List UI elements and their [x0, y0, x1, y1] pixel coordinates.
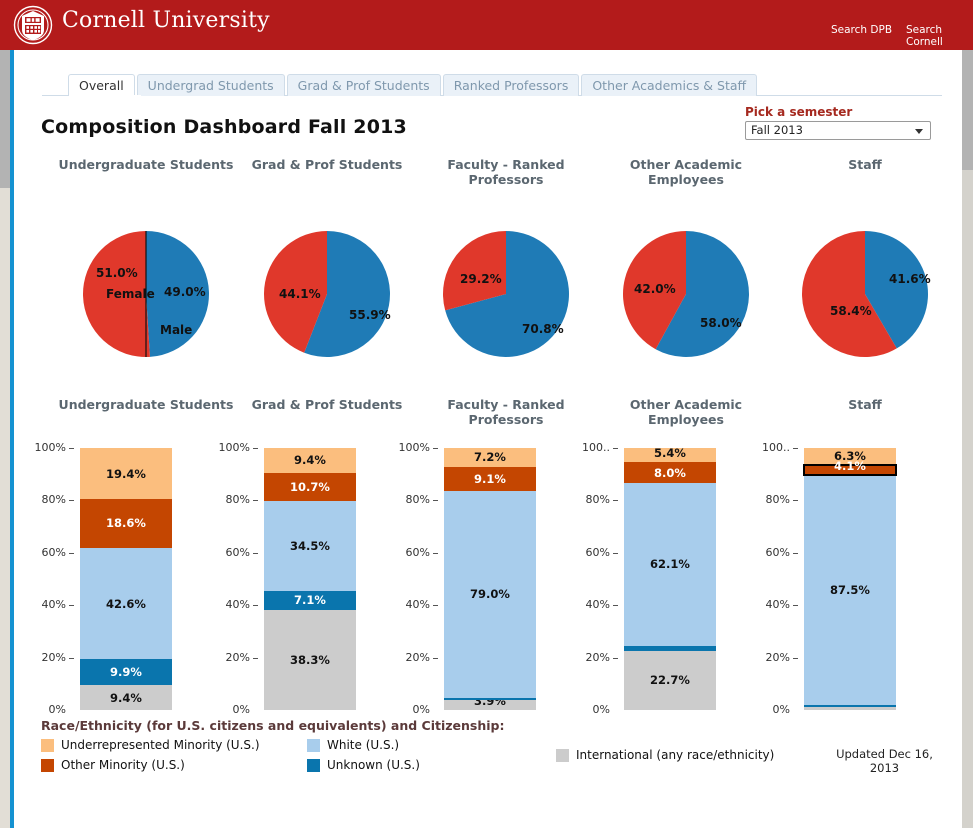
bar-segment[interactable] [444, 698, 536, 700]
y-axis-tick-mark [433, 605, 438, 606]
legend-label: Other Minority (U.S.) [61, 758, 185, 772]
bar-segment-label: 9.1% [474, 472, 506, 486]
bar-segment[interactable]: 9.4% [264, 448, 356, 473]
tab-undergrad-students[interactable]: Undergrad Students [137, 74, 285, 96]
y-axis-tick-label: 40% [14, 598, 66, 611]
bar-chart-title: Faculty - Ranked Professors [418, 397, 594, 427]
y-axis-tick-mark [793, 658, 798, 659]
y-axis-tick-mark [613, 448, 618, 449]
bar-segment[interactable]: 9.1% [444, 467, 536, 491]
pie-slice-label: 58.0% [700, 316, 742, 330]
y-axis-tick-label: 60% [738, 546, 790, 559]
legend-swatch [41, 739, 54, 752]
y-axis-tick-label: 20% [738, 651, 790, 664]
bar-segment-label: 5.4% [654, 446, 686, 460]
y-axis-tick-label: 40% [558, 598, 610, 611]
y-axis-tick-label: 0% [198, 703, 250, 716]
y-axis-tick-mark [613, 500, 618, 501]
y-axis-tick-mark [793, 448, 798, 449]
y-axis-tick-label: 0% [558, 703, 610, 716]
bar-segment[interactable]: 38.3% [264, 610, 356, 710]
dashboard-page: Cornell University Search DPB Search Cor… [0, 0, 973, 828]
bar-segment-label: 18.6% [106, 516, 146, 530]
y-axis-tick-label: 20% [558, 651, 610, 664]
y-axis-tick-label: 100.. [558, 441, 610, 454]
y-axis-tick-label: 20% [14, 651, 66, 664]
pie-slice-label: 42.0% [634, 282, 676, 296]
bar-segment[interactable]: 10.7% [264, 473, 356, 501]
bar-segment[interactable]: 18.6% [80, 499, 172, 548]
stacked-bar: 22.7%62.1%8.0%5.4% [624, 448, 716, 710]
legend-label: Underrepresented Minority (U.S.) [61, 738, 260, 752]
bar-chart-title: Undergraduate Students [58, 397, 234, 412]
legend-item[interactable]: International (any race/ethnicity) [556, 748, 774, 762]
y-axis-tick-label: 60% [558, 546, 610, 559]
y-axis-tick-label: 0% [738, 703, 790, 716]
pie-slice-label: 41.6% [889, 272, 931, 286]
search-dpb-link[interactable]: Search DPB [831, 24, 892, 36]
pie-slice-label: 44.1% [279, 287, 321, 301]
bar-segment[interactable]: 62.1% [624, 483, 716, 646]
bar-segment-label: 9.9% [110, 665, 142, 679]
y-axis-tick-label: 60% [378, 546, 430, 559]
site-brand: Cornell University [62, 8, 270, 33]
y-axis-tick-mark [253, 605, 258, 606]
right-scrollbar-thumb[interactable] [962, 50, 973, 170]
legend-item[interactable]: White (U.S.) [307, 738, 399, 752]
y-axis-tick-label: 40% [738, 598, 790, 611]
y-axis-tick-mark [69, 500, 74, 501]
bar-segment[interactable]: 9.9% [80, 659, 172, 685]
pie-chart-title: Staff [777, 157, 953, 172]
y-axis-tick-label: 80% [738, 493, 790, 506]
bar-chart-title: Other Academic Employees [598, 397, 774, 427]
y-axis-tick-mark [69, 605, 74, 606]
y-axis-tick-label: 60% [198, 546, 250, 559]
y-axis-tick-mark [433, 553, 438, 554]
tab-overall[interactable]: Overall [68, 74, 135, 96]
bar-segment[interactable]: 34.5% [264, 501, 356, 591]
bar-segment[interactable]: 8.0% [624, 462, 716, 483]
stacked-bar: 3.9%79.0%9.1%7.2% [444, 448, 536, 710]
legend-item[interactable]: Underrepresented Minority (U.S.) [41, 738, 260, 752]
y-axis-tick-mark [613, 658, 618, 659]
bar-chart-title: Grad & Prof Students [239, 397, 415, 412]
pie-chart-title: Undergraduate Students [58, 157, 234, 172]
pie-slice-label: 29.2% [460, 272, 502, 286]
legend-item[interactable]: Other Minority (U.S.) [41, 758, 185, 772]
bar-segment-label: 9.4% [110, 691, 142, 705]
bar-segment[interactable]: 1.1% [804, 707, 896, 710]
legend: Race/Ethnicity (for U.S. citizens and eq… [41, 718, 941, 737]
pie-chart-title: Faculty - Ranked Professors [418, 157, 594, 187]
y-axis-tick-label: 40% [198, 598, 250, 611]
bar-segment[interactable]: 79.0% [444, 491, 536, 698]
legend-item[interactable]: Unknown (U.S.) [307, 758, 420, 772]
y-axis-tick-mark [433, 448, 438, 449]
y-axis-tick-label: 100% [378, 441, 430, 454]
y-axis-tick-label: 20% [378, 651, 430, 664]
bar-segment[interactable]: 7.2% [444, 448, 536, 467]
y-axis-tick-label: 80% [558, 493, 610, 506]
pie-chart-title: Grad & Prof Students [239, 157, 415, 172]
y-axis-tick-label: 40% [378, 598, 430, 611]
y-axis-tick-label: 80% [14, 493, 66, 506]
tab-strip: OverallUndergrad StudentsGrad & Prof Stu… [68, 73, 759, 96]
y-axis-tick-label: 80% [378, 493, 430, 506]
bar-segment-label: 10.7% [290, 480, 330, 494]
y-axis-tick-mark [793, 500, 798, 501]
tab-ranked-professors[interactable]: Ranked Professors [443, 74, 580, 96]
bar-segment-label: 7.1% [294, 593, 326, 607]
semester-select[interactable]: Fall 2013 [745, 121, 931, 140]
left-scrollbar-thumb[interactable] [0, 50, 10, 188]
left-scrollbar[interactable] [0, 50, 10, 828]
legend-swatch [307, 739, 320, 752]
search-cornell-link[interactable]: Search Cornell [906, 24, 973, 48]
bar-segment-label: 62.1% [650, 557, 690, 571]
tab-other-academics-staff[interactable]: Other Academics & Staff [581, 74, 757, 96]
bar-segment-label: 4.1% [834, 459, 866, 473]
y-axis-tick-mark [253, 658, 258, 659]
bar-segment[interactable]: 19.4% [80, 448, 172, 499]
y-axis-tick-mark [253, 553, 258, 554]
pie-chart[interactable] [800, 229, 930, 359]
bar-segment[interactable]: 22.7% [624, 651, 716, 710]
legend-label: International (any race/ethnicity) [576, 748, 774, 762]
bar-segment-label: 42.6% [106, 597, 146, 611]
y-axis-tick-mark [433, 500, 438, 501]
legend-swatch [556, 749, 569, 762]
legend-swatch [41, 759, 54, 772]
pie-slice-label: 55.9% [349, 308, 391, 322]
y-axis-tick-mark [253, 448, 258, 449]
y-axis-tick-mark [793, 605, 798, 606]
y-axis-tick-label: 100.. [738, 441, 790, 454]
page-title: Composition Dashboard Fall 2013 [41, 116, 407, 138]
bar-segment-label: 79.0% [470, 587, 510, 601]
pie-slice-label: 49.0% [164, 285, 206, 299]
y-axis-tick-mark [253, 500, 258, 501]
semester-select-value: Fall 2013 [751, 123, 803, 137]
y-axis-tick-mark [793, 553, 798, 554]
y-axis-tick-mark [69, 553, 74, 554]
y-axis-tick-label: 0% [14, 703, 66, 716]
y-axis-tick-label: 100% [198, 441, 250, 454]
bar-segment[interactable]: 87.5% [804, 475, 896, 704]
pie-slice-category-label: Female [106, 287, 155, 301]
pie-slice-label: 58.4% [830, 304, 872, 318]
bar-segment-label: 34.5% [290, 539, 330, 553]
bar-segment-label: 8.0% [654, 466, 686, 480]
bar-segment-label: 22.7% [650, 673, 690, 687]
bar-segment-label: 19.4% [106, 467, 146, 481]
bar-segment[interactable]: 7.1% [264, 591, 356, 610]
semester-picker: Pick a semester Fall 2013 [745, 105, 935, 140]
cornell-seal-icon [13, 5, 53, 45]
pie-chart-title: Other Academic Employees [598, 157, 774, 187]
bar-segment[interactable]: 4.1% [804, 465, 896, 476]
y-axis-tick-label: 20% [198, 651, 250, 664]
legend-title: Race/Ethnicity (for U.S. citizens and eq… [41, 718, 941, 733]
bar-segment-label: 7.2% [474, 450, 506, 464]
pie-slice-label: 70.8% [522, 322, 564, 336]
pie-slice-category-label: Male [160, 323, 192, 337]
y-axis-tick-mark [69, 448, 74, 449]
chevron-down-icon [915, 129, 923, 134]
y-axis-tick-label: 60% [14, 546, 66, 559]
legend-label: Unknown (U.S.) [327, 758, 420, 772]
site-header: Cornell University Search DPB Search Cor… [0, 0, 973, 50]
y-axis-tick-mark [69, 658, 74, 659]
bar-segment-label: 38.3% [290, 653, 330, 667]
bar-chart-title: Staff [777, 397, 953, 412]
updated-timestamp: Updated Dec 16, 2013 [827, 747, 942, 775]
bar-segment[interactable]: 3.9% [444, 700, 536, 710]
pie-slice-label: 51.0% [96, 266, 138, 280]
stacked-bar: 1.1%87.5%4.1%6.3% [804, 448, 896, 710]
bar-segment-label: 9.4% [294, 453, 326, 467]
pie-chart[interactable] [441, 229, 571, 359]
y-axis-tick-mark [613, 553, 618, 554]
legend-label: White (U.S.) [327, 738, 399, 752]
stacked-bar: 9.4%9.9%42.6%18.6%19.4% [80, 448, 172, 710]
bar-segment[interactable]: 9.4% [80, 685, 172, 710]
stacked-bar: 38.3%7.1%34.5%10.7%9.4% [264, 448, 356, 710]
tab-grad-prof-students[interactable]: Grad & Prof Students [287, 74, 441, 96]
legend-swatch [307, 759, 320, 772]
bar-segment[interactable]: 42.6% [80, 548, 172, 660]
y-axis-tick-mark [433, 658, 438, 659]
y-axis-tick-label: 80% [198, 493, 250, 506]
semester-picker-label: Pick a semester [745, 105, 935, 119]
bar-segment-label: 87.5% [830, 583, 870, 597]
y-axis-tick-mark [613, 605, 618, 606]
dashboard-canvas: OverallUndergrad StudentsGrad & Prof Stu… [14, 50, 962, 828]
bar-segment[interactable] [804, 705, 896, 708]
bar-segment[interactable] [624, 646, 716, 651]
right-scrollbar[interactable] [962, 50, 973, 828]
y-axis-tick-label: 100% [14, 441, 66, 454]
bar-segment[interactable]: 5.4% [624, 448, 716, 462]
y-axis-tick-label: 0% [378, 703, 430, 716]
active-tab-underline-gap [69, 95, 141, 96]
